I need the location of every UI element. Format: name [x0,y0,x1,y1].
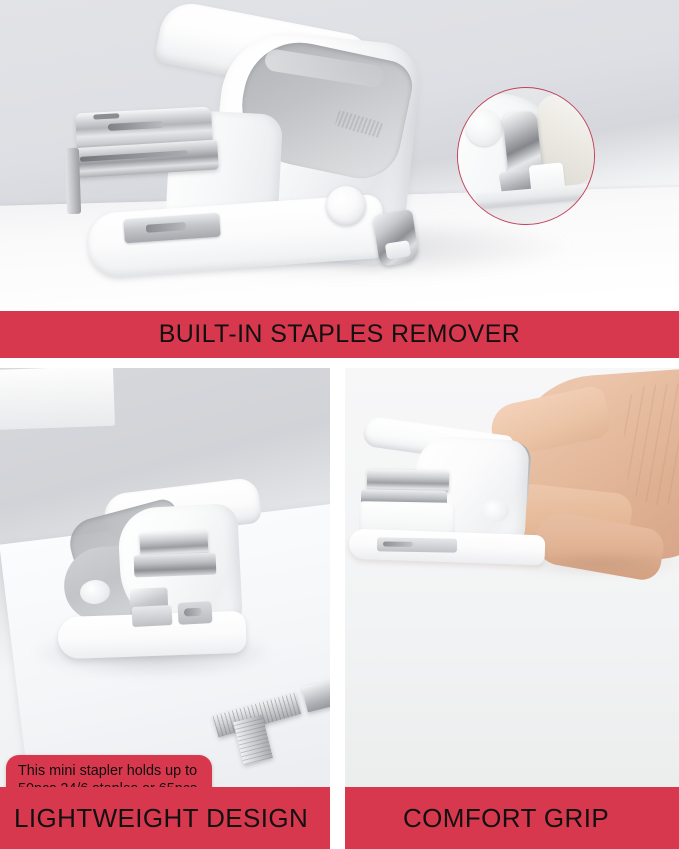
callout-text-lightweight: This mini stapler holds up to 50pcs 24/6… [18,762,202,787]
lightweight-stapler-image [36,484,266,664]
stapler-pivot-button-right [481,500,509,522]
top-product-photo [0,0,679,311]
loose-staple-strips [208,678,330,768]
inset-pivot-button [466,110,502,146]
staple-remover-claw [372,209,420,267]
hero-stapler-image [40,8,460,288]
banner-built-in-staples-remover: BUILT-IN STAPLES REMOVER [0,311,679,358]
banner-comfort-grip: COMFORT GRIP [345,787,679,849]
stapler-anvil-right [377,537,457,552]
bottom-right-product-photo: Ergonomic surfaces enhance feel and cont… [345,368,679,787]
staple-remover-detail-inset [457,87,595,225]
callout-lightweight-capacity: This mini stapler holds up to 50pcs 24/6… [6,755,212,787]
staple-strip [302,674,330,713]
paper-stack [0,368,115,430]
stapler-anvil-left [132,605,173,627]
banner-label-bottom-right: COMFORT GRIP [403,803,609,834]
stapler-pivot-button [326,186,366,226]
comfort-grip-stapler-image [357,426,557,576]
product-infographic: BUILT-IN STAPLES REMOVER This mini stapl… [0,0,679,849]
banner-label-bottom-left: LIGHTWEIGHT DESIGN [14,803,308,834]
hand-skin-texture [621,381,679,507]
stapler-grey-knob-left [177,601,212,625]
stapler-chrome-lower-left [134,553,217,578]
stapler-chrome-side-plate [65,148,81,214]
banner-lightweight-design: LIGHTWEIGHT DESIGN [0,787,330,849]
bottom-left-product-photo: This mini stapler holds up to 50pcs 24/6… [0,368,330,787]
banner-label-top: BUILT-IN STAPLES REMOVER [159,320,521,349]
